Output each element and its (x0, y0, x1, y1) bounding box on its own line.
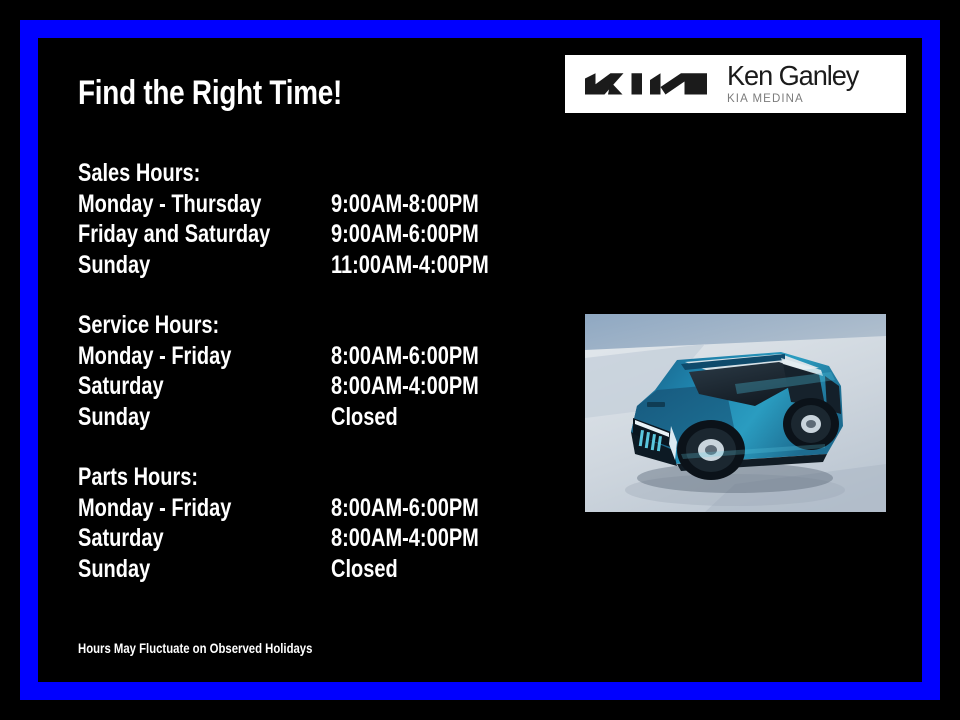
dealer-name: Ken Ganley (727, 62, 858, 90)
hours-section-heading: Sales Hours: (78, 158, 200, 189)
hours-day-label: Monday - Friday (78, 341, 231, 372)
dealer-wordmark: Ken Ganley KIA MEDINA (727, 62, 862, 106)
hours-row: Sunday11:00AM-4:00PM (78, 250, 231, 281)
vehicle-photo (585, 314, 886, 512)
hours-time-value: 11:00AM-4:00PM (331, 250, 489, 281)
hours-section-heading: Parts Hours: (78, 462, 198, 493)
hours-day-label: Monday - Thursday (78, 189, 261, 220)
hours-time-value: 9:00AM-6:00PM (331, 219, 479, 250)
hours-row: Saturday8:00AM-4:00PM (78, 523, 228, 554)
hours-day-label: Saturday (78, 371, 164, 402)
hours-row: SundayClosed (78, 554, 228, 585)
hours-block-service: Service Hours:Monday - Friday8:00AM-6:00… (78, 310, 254, 432)
hours-time-value: Closed (331, 402, 398, 433)
hours-time-value: Closed (331, 554, 398, 585)
kia-logo-icon (583, 69, 711, 99)
hours-row: Monday - Friday8:00AM-6:00PM (78, 493, 228, 524)
vehicle-photo-image (585, 314, 886, 512)
hours-row: Friday and Saturday9:00AM-6:00PM (78, 219, 231, 250)
hours-row: Monday - Thursday9:00AM-8:00PM (78, 189, 231, 220)
hours-time-value: 8:00AM-4:00PM (331, 371, 479, 402)
hours-time-value: 8:00AM-6:00PM (331, 341, 479, 372)
hours-block-parts: Parts Hours:Monday - Friday8:00AM-6:00PM… (78, 462, 228, 584)
footer-disclaimer: Hours May Fluctuate on Observed Holidays (78, 641, 312, 656)
hours-section-heading: Service Hours: (78, 310, 219, 341)
hours-block-sales: Sales Hours:Monday - Thursday9:00AM-8:00… (78, 158, 231, 280)
page-title: Find the Right Time! (78, 74, 342, 113)
hours-day-label: Monday - Friday (78, 493, 231, 524)
hours-day-label: Friday and Saturday (78, 219, 270, 250)
hours-row: Monday - Friday8:00AM-6:00PM (78, 341, 254, 372)
hours-time-value: 8:00AM-6:00PM (331, 493, 479, 524)
hours-time-value: 9:00AM-8:00PM (331, 189, 479, 220)
dealer-subtitle: KIA MEDINA (727, 94, 862, 106)
dealer-logo: Ken Ganley KIA MEDINA (565, 55, 906, 113)
hours-row: SundayClosed (78, 402, 254, 433)
slide-canvas: Find the Right Time! Ken Ganley KIA MEDI… (0, 0, 960, 720)
hours-day-label: Sunday (78, 554, 150, 585)
hours-day-label: Sunday (78, 402, 150, 433)
hours-time-value: 8:00AM-4:00PM (331, 523, 479, 554)
hours-day-label: Sunday (78, 250, 150, 281)
hours-day-label: Saturday (78, 523, 164, 554)
hours-row: Saturday8:00AM-4:00PM (78, 371, 254, 402)
